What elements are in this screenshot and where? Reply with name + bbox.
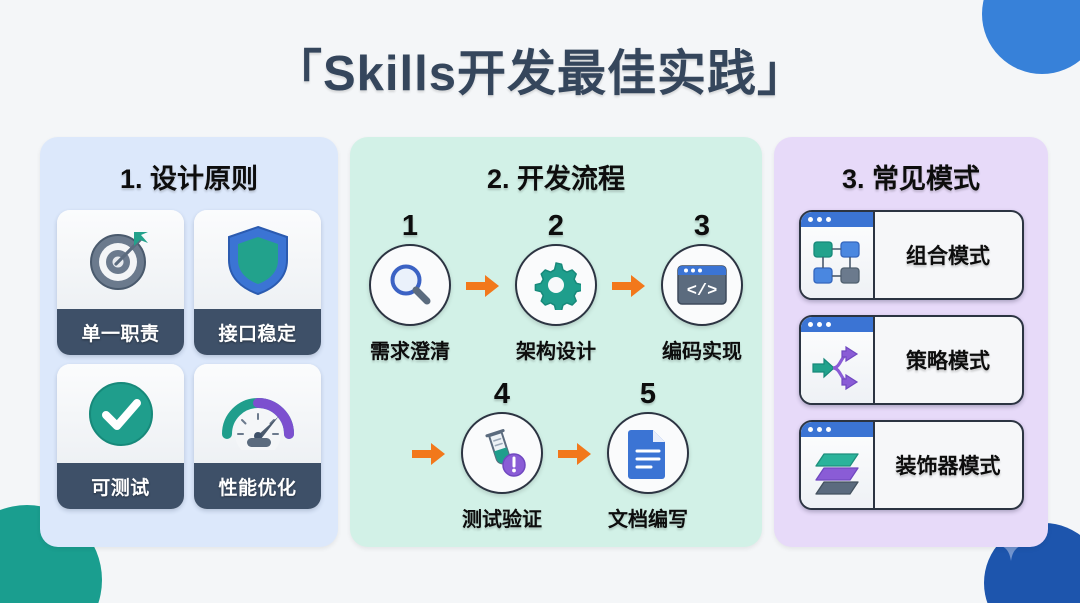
code-window-icon: </> bbox=[675, 261, 729, 309]
workflow-row-second: 4 bbox=[408, 380, 704, 532]
window-dot bbox=[826, 427, 831, 432]
window-content bbox=[801, 332, 873, 403]
arrow-right-icon bbox=[466, 274, 500, 298]
branching-arrows-icon bbox=[811, 343, 863, 393]
panel-heading-workflow: 2. 开发流程 bbox=[487, 157, 625, 196]
gear-icon bbox=[531, 260, 581, 310]
composite-nodes-icon bbox=[811, 238, 863, 288]
gauge-icon bbox=[217, 378, 299, 450]
step-icon-circle bbox=[515, 244, 597, 326]
principle-card-art bbox=[194, 364, 321, 463]
stacked-layers-icon bbox=[810, 449, 864, 497]
principle-card-performance[interactable]: 性能优化 bbox=[194, 364, 321, 509]
principle-card-single-responsibility[interactable]: 单一职责 bbox=[57, 210, 184, 355]
window-titlebar bbox=[801, 212, 873, 227]
workflow-step-testing[interactable]: 4 bbox=[446, 380, 558, 532]
magnifier-icon bbox=[385, 260, 435, 310]
step-number: 1 bbox=[402, 212, 418, 241]
pattern-card-decorator[interactable]: 装饰器模式 bbox=[799, 420, 1024, 510]
check-circle-icon bbox=[84, 377, 158, 451]
principle-card-interface-stability[interactable]: 接口稳定 bbox=[194, 210, 321, 355]
window-dot bbox=[817, 322, 822, 327]
principle-card-testable[interactable]: 可测试 bbox=[57, 364, 184, 509]
principle-card-art bbox=[57, 210, 184, 309]
window-dot bbox=[817, 217, 822, 222]
panels-container: 1. 设计原则 单一职责 bbox=[40, 137, 1048, 547]
document-icon bbox=[625, 427, 671, 479]
step-label: 架构设计 bbox=[516, 335, 596, 364]
step-icon-circle: </> bbox=[661, 244, 743, 326]
panel-common-patterns: 3. 常见模式 bbox=[774, 137, 1048, 547]
window-dot bbox=[808, 322, 813, 327]
workflow-step-coding[interactable]: 3 </> 编码实现 bbox=[646, 212, 758, 364]
step-number: 2 bbox=[548, 212, 564, 241]
step-number: 5 bbox=[640, 380, 656, 409]
pattern-label: 组合模式 bbox=[875, 212, 1022, 298]
window-content bbox=[801, 437, 873, 508]
pattern-window-frame bbox=[801, 422, 875, 508]
workflow-step-requirements[interactable]: 1 需求澄清 bbox=[354, 212, 466, 364]
test-tube-icon bbox=[476, 427, 528, 479]
principle-label: 接口稳定 bbox=[194, 309, 321, 355]
arrow-right-icon bbox=[612, 274, 646, 298]
step-label: 编码实现 bbox=[662, 335, 742, 364]
workflow-row-first: 1 需求澄清 2 bbox=[354, 212, 758, 364]
pattern-window-frame bbox=[801, 317, 875, 403]
window-dot bbox=[808, 427, 813, 432]
pattern-window-frame bbox=[801, 212, 875, 298]
target-icon bbox=[83, 223, 159, 297]
step-icon-circle bbox=[461, 412, 543, 494]
principle-label: 性能优化 bbox=[194, 463, 321, 509]
svg-text:</>: </> bbox=[687, 282, 718, 301]
pattern-label: 策略模式 bbox=[875, 317, 1022, 403]
window-titlebar bbox=[801, 317, 873, 332]
step-label: 需求澄清 bbox=[370, 335, 450, 364]
step-label: 文档编写 bbox=[608, 503, 688, 532]
pattern-card-list: 组合模式 bbox=[799, 210, 1024, 510]
page-title: 「Skills开发最佳实践」 bbox=[0, 34, 1080, 105]
workflow-step-documentation[interactable]: 5 文档编写 bbox=[592, 380, 704, 532]
infographic-canvas: 「Skills开发最佳实践」 1. 设计原则 bbox=[0, 0, 1080, 603]
pattern-card-strategy[interactable]: 策略模式 bbox=[799, 315, 1024, 405]
window-dot bbox=[826, 217, 831, 222]
window-dot bbox=[817, 427, 822, 432]
shield-icon bbox=[223, 222, 293, 298]
window-titlebar bbox=[801, 422, 873, 437]
window-content bbox=[801, 227, 873, 298]
panel-heading-patterns: 3. 常见模式 bbox=[842, 157, 980, 196]
panel-design-principles: 1. 设计原则 单一职责 bbox=[40, 137, 338, 547]
step-icon-circle bbox=[607, 412, 689, 494]
step-label: 测试验证 bbox=[462, 503, 542, 532]
principle-card-art bbox=[57, 364, 184, 463]
principle-card-grid: 单一职责 接口稳定 bbox=[57, 210, 321, 509]
arrow-right-icon bbox=[558, 442, 592, 466]
panel-development-workflow: 2. 开发流程 1 需求澄清 bbox=[350, 137, 762, 547]
window-dot bbox=[808, 217, 813, 222]
pattern-label: 装饰器模式 bbox=[875, 422, 1022, 508]
window-dot bbox=[826, 322, 831, 327]
workflow-step-architecture[interactable]: 2 架构设计 bbox=[500, 212, 612, 364]
step-number: 3 bbox=[694, 212, 710, 241]
principle-label: 可测试 bbox=[57, 463, 184, 509]
panel-heading-principles: 1. 设计原则 bbox=[120, 157, 258, 196]
step-icon-circle bbox=[369, 244, 451, 326]
step-number: 4 bbox=[494, 380, 510, 409]
arrow-right-icon bbox=[412, 442, 446, 466]
principle-card-art bbox=[194, 210, 321, 309]
pattern-card-composite[interactable]: 组合模式 bbox=[799, 210, 1024, 300]
principle-label: 单一职责 bbox=[57, 309, 184, 355]
